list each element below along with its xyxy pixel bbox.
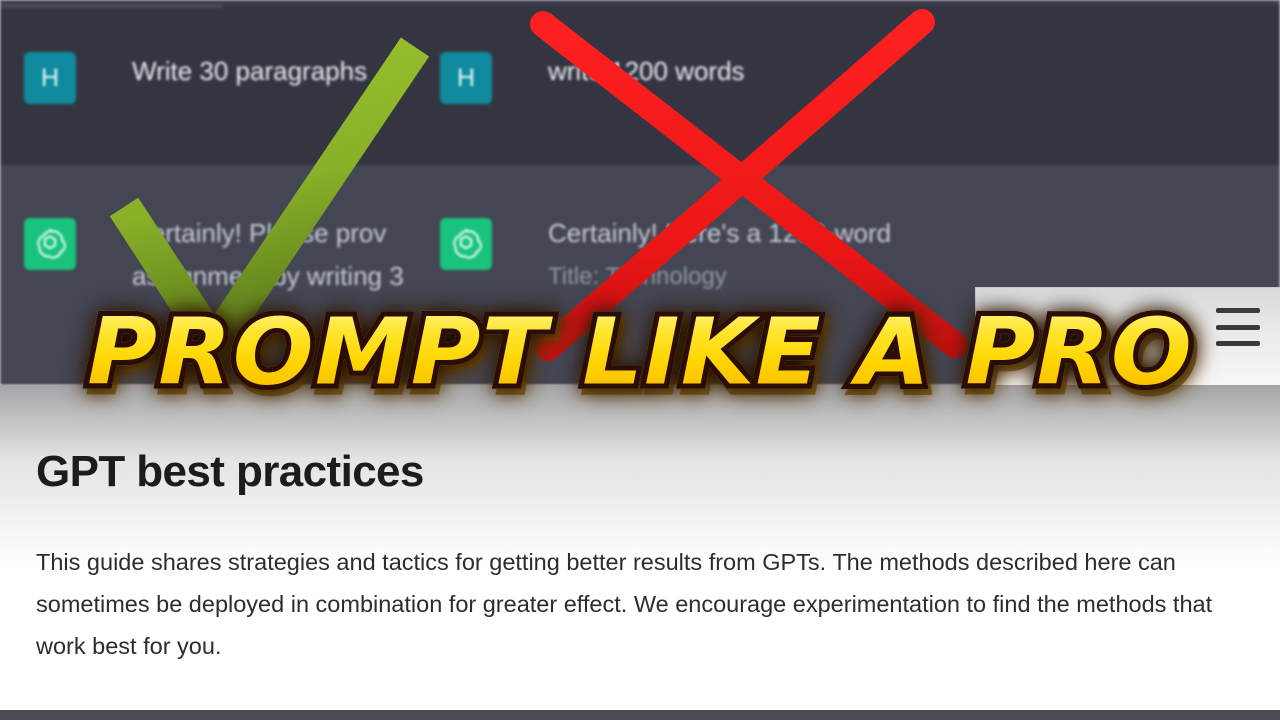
page-title: GPT best practices [36,447,1244,497]
chat-message-user-right: H write 1200 words [440,52,492,104]
chat-message-assistant-left: Certainly! Please prov assignment by wri… [24,218,76,270]
documentation-page: GPT best practices This guide shares str… [0,385,1280,720]
chat-message-user-right-text: write 1200 words [548,50,940,93]
chat-message-assistant-left-clip: Certainly! Please prov assignment by wri… [104,212,452,332]
chat-message-user-left-clip: Write 30 paragraphs [104,50,449,106]
user-avatar-icon: H [24,52,76,104]
user-avatar-letter: H [41,66,59,91]
chat-message-assistant-right: Certainly! Here's a 1200-word Title: Tec… [440,218,492,270]
hamburger-line-3 [1216,341,1260,346]
user-avatar-letter-2: H [457,66,475,91]
openai-logo-icon-2 [440,218,492,270]
bottom-bar [0,710,1280,720]
chat-message-assistant-right-text: Certainly! Here's a 1200-word [548,212,1080,255]
chat-message-user-left-text: Write 30 paragraphs [132,50,449,93]
openai-logo-icon [24,218,76,270]
screenshot-root: H Write 30 paragraphs H write 1200 words [0,0,1280,720]
documentation-content: GPT best practices This guide shares str… [0,385,1280,667]
page-body-paragraph: This guide shares strategies and tactics… [36,541,1244,667]
chat-message-assistant-left-text-2: assignment by writing 3 [132,255,452,298]
hamburger-menu-icon[interactable] [1216,308,1260,346]
chat-message-user-left: H Write 30 paragraphs [24,52,76,104]
openai-logo-svg-2 [449,227,483,261]
chat-row-user-right [970,7,1280,165]
chat-message-assistant-left-text: Certainly! Please prov [132,212,452,255]
hamburger-line-1 [1216,308,1260,313]
hamburger-line-2 [1216,325,1260,330]
openai-logo-svg [33,227,67,261]
chat-message-user-right-clip: write 1200 words [520,50,940,106]
user-avatar-icon-2: H [440,52,492,104]
